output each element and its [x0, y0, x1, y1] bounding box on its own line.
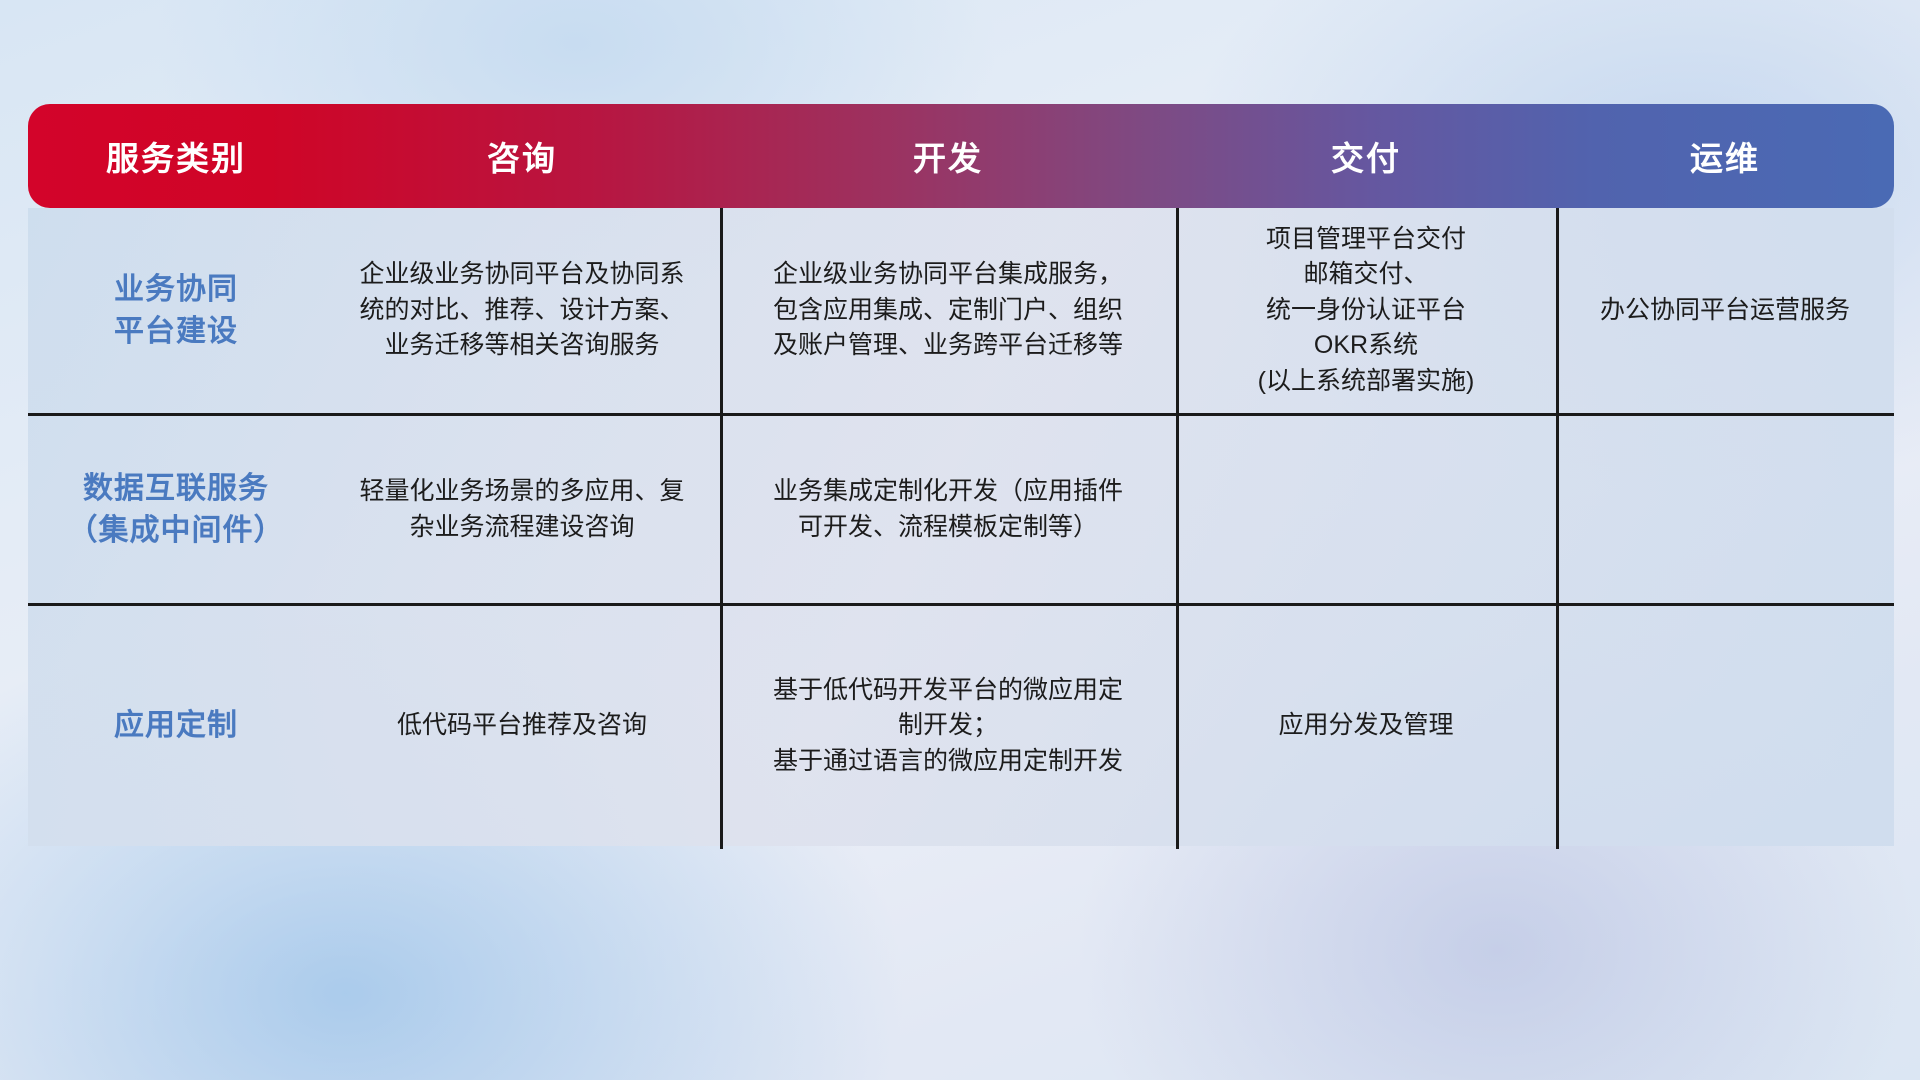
cell-delivery: [1176, 416, 1556, 603]
row-category-label: 业务协同 平台建设: [28, 208, 324, 413]
cell-operations: [1556, 416, 1894, 603]
column-header-category: 服务类别: [28, 132, 324, 180]
cell-operations: 办公协同平台运营服务: [1556, 208, 1894, 413]
column-header-development: 开发: [720, 132, 1176, 180]
cell-consulting: 企业级业务协同平台及协同系 统的对比、推荐、设计方案、 业务迁移等相关咨询服务: [324, 208, 720, 413]
cell-consulting: 低代码平台推荐及咨询: [324, 606, 720, 846]
column-header-consulting: 咨询: [324, 132, 720, 180]
table-row: 应用定制 低代码平台推荐及咨询 基于低代码开发平台的微应用定 制开发； 基于通过…: [28, 606, 1894, 846]
row-category-label: 应用定制: [28, 606, 324, 846]
cell-delivery: 项目管理平台交付 邮箱交付、 统一身份认证平台 OKR系统 (以上系统部署实施): [1176, 208, 1556, 413]
column-header-delivery: 交付: [1176, 132, 1556, 180]
table-row: 数据互联服务 （集成中间件） 轻量化业务场景的多应用、复 杂业务流程建设咨询 业…: [28, 416, 1894, 606]
cell-consulting: 轻量化业务场景的多应用、复 杂业务流程建设咨询: [324, 416, 720, 603]
cell-operations: [1556, 606, 1894, 846]
table-row: 业务协同 平台建设 企业级业务协同平台及协同系 统的对比、推荐、设计方案、 业务…: [28, 208, 1894, 416]
service-matrix-table: 服务类别 咨询 开发 交付 运维 业务协同 平台建设 企业级业务协同平台及协同系…: [28, 104, 1894, 954]
table-header-row: 服务类别 咨询 开发 交付 运维: [28, 104, 1894, 208]
cell-development: 基于低代码开发平台的微应用定 制开发； 基于通过语言的微应用定制开发: [720, 606, 1176, 846]
cell-development: 业务集成定制化开发（应用插件 可开发、流程模板定制等）: [720, 416, 1176, 603]
cell-development: 企业级业务协同平台集成服务， 包含应用集成、定制门户、组织 及账户管理、业务跨平…: [720, 208, 1176, 413]
row-category-label: 数据互联服务 （集成中间件）: [28, 416, 324, 603]
cell-delivery: 应用分发及管理: [1176, 606, 1556, 846]
table-body: 业务协同 平台建设 企业级业务协同平台及协同系 统的对比、推荐、设计方案、 业务…: [28, 208, 1894, 846]
column-header-operations: 运维: [1556, 132, 1894, 180]
